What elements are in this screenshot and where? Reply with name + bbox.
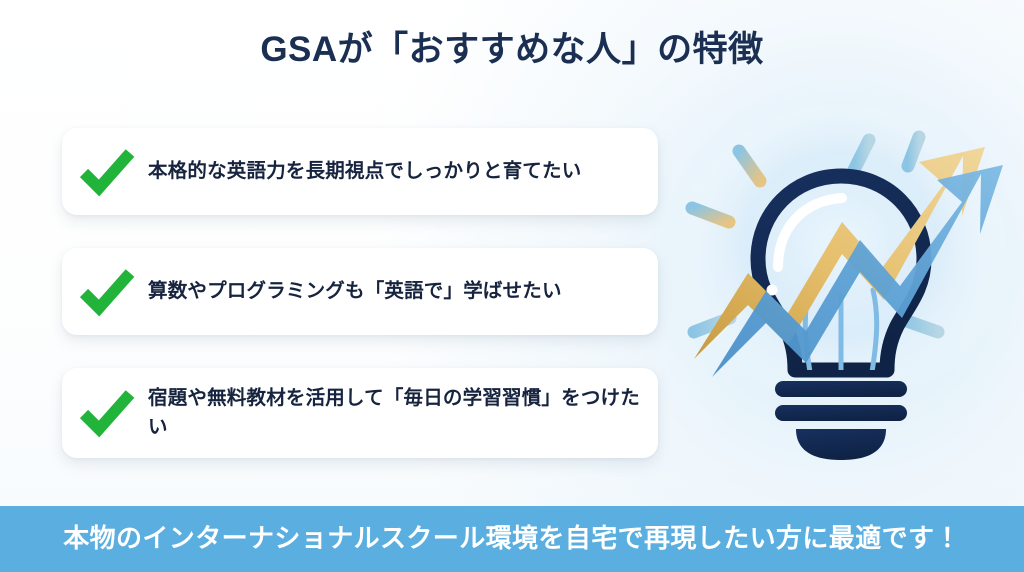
page-title: GSAが「おすすめな人」の特徴 [0,30,1024,70]
list-item: 算数やプログラミングも「英語で」学ばせたい [62,248,658,335]
list-item: 本格的な英語力を長期視点でしっかりと育てたい [62,128,658,215]
slide-canvas: GSAが「おすすめな人」の特徴 本格的な英語力を長期視点でしっかりと育てたい 算… [0,0,1024,572]
list-item: 宿題や無料教材を活用して「毎日の学習習慣」をつけたい [62,368,658,458]
lightbulb-growth-arrow-illustration [676,104,1006,460]
bulb-base [775,381,907,460]
list-item-label: 宿題や無料教材を活用して「毎日の学習習慣」をつけたい [148,384,642,443]
check-icon [76,266,138,318]
banner-text: 本物のインターナショナルスクール環境を自宅で再現したい方に最適です！ [63,523,961,554]
check-icon [76,387,138,439]
checklist: 本格的な英語力を長期視点でしっかりと育てたい 算数やプログラミングも「英語で」学… [62,128,658,458]
check-icon [76,146,138,198]
list-item-label: 算数やプログラミングも「英語で」学ばせたい [148,277,562,305]
bottom-banner: 本物のインターナショナルスクール環境を自宅で再現したい方に最適です！ [0,506,1024,572]
list-item-label: 本格的な英語力を長期視点でしっかりと育てたい [148,157,581,185]
